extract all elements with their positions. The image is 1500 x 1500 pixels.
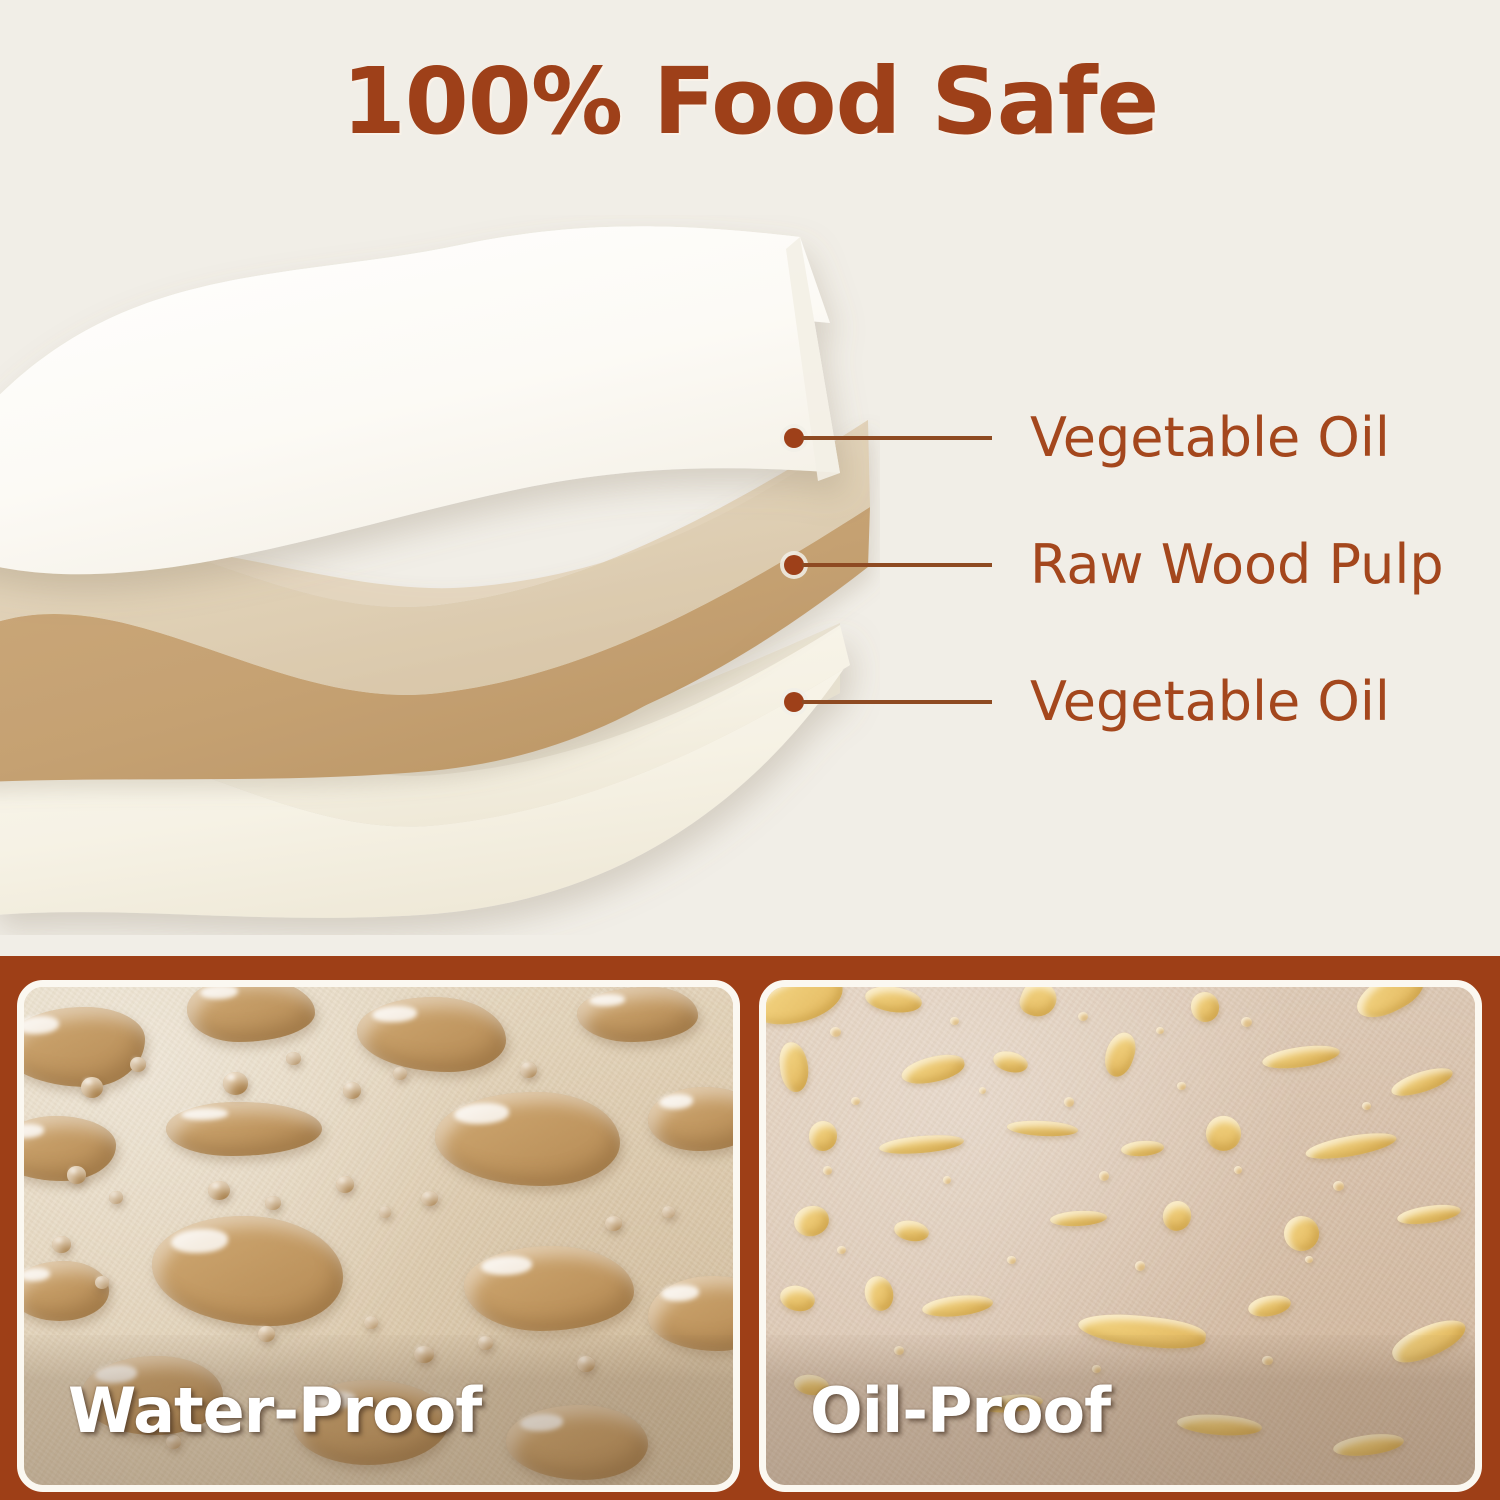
water-blob	[577, 987, 698, 1042]
feature-card-oil-proof: Oil-Proof	[759, 980, 1482, 1492]
caption-overlay-band: Water-Proof	[24, 1335, 733, 1485]
water-droplet	[95, 1276, 109, 1289]
feature-card-water-proof: Water-Proof	[17, 980, 740, 1492]
feature-caption: Water-Proof	[68, 1374, 481, 1447]
callout-vegetable-oil-top: Vegetable Oil	[784, 408, 1390, 468]
oil-droplet	[1241, 1017, 1252, 1027]
page-title: 100% Food Safe	[0, 48, 1500, 155]
water-droplet	[364, 1316, 378, 1329]
water-droplet	[52, 1236, 70, 1253]
oil-droplet	[1135, 1261, 1146, 1271]
water-droplet	[265, 1196, 281, 1210]
oil-droplet	[1078, 1012, 1088, 1021]
callout-vegetable-oil-bottom: Vegetable Oil	[784, 672, 1390, 732]
oil-droplet	[1333, 1181, 1344, 1191]
callout-label: Vegetable Oil	[1030, 675, 1390, 729]
oil-droplet	[1305, 1256, 1313, 1263]
callout-leader-line	[802, 700, 992, 704]
water-proof-photo: Water-Proof	[24, 987, 733, 1485]
oil-droplet	[1064, 1097, 1075, 1107]
callout-dot-icon	[784, 692, 804, 712]
oil-droplet	[1156, 1027, 1164, 1034]
oil-droplet	[950, 1017, 959, 1025]
callout-label: Raw Wood Pulp	[1030, 538, 1444, 592]
water-droplet	[662, 1206, 675, 1218]
top-section: 100% Food Safe	[0, 0, 1500, 956]
oil-droplet	[1177, 1082, 1186, 1090]
callout-leader-line	[802, 436, 992, 440]
water-droplet	[286, 1052, 300, 1065]
callout-raw-wood-pulp: Raw Wood Pulp	[784, 535, 1444, 595]
water-droplet	[223, 1072, 249, 1095]
oil-proof-photo: Oil-Proof	[766, 987, 1475, 1485]
caption-overlay-band: Oil-Proof	[766, 1335, 1475, 1485]
water-droplet	[520, 1062, 537, 1078]
layer-diagram-illustration	[0, 215, 880, 935]
water-droplet	[81, 1077, 104, 1098]
callout-label: Vegetable Oil	[1030, 411, 1390, 465]
callout-leader-line	[802, 563, 992, 567]
water-droplet	[343, 1082, 361, 1099]
water-blob	[464, 1246, 634, 1331]
oil-droplet	[823, 1166, 832, 1174]
callout-dot-icon	[784, 555, 804, 575]
feature-caption: Oil-Proof	[810, 1374, 1110, 1447]
water-droplet	[393, 1067, 407, 1080]
water-droplet	[379, 1206, 392, 1218]
oil-droplet	[1099, 1171, 1109, 1180]
water-droplet	[130, 1057, 146, 1072]
feature-cards-section: Water-Proof	[0, 956, 1500, 1500]
callout-dot-icon	[784, 428, 804, 448]
oil-droplet	[1007, 1256, 1016, 1264]
water-droplet	[208, 1181, 229, 1200]
oil-droplet	[943, 1176, 951, 1183]
